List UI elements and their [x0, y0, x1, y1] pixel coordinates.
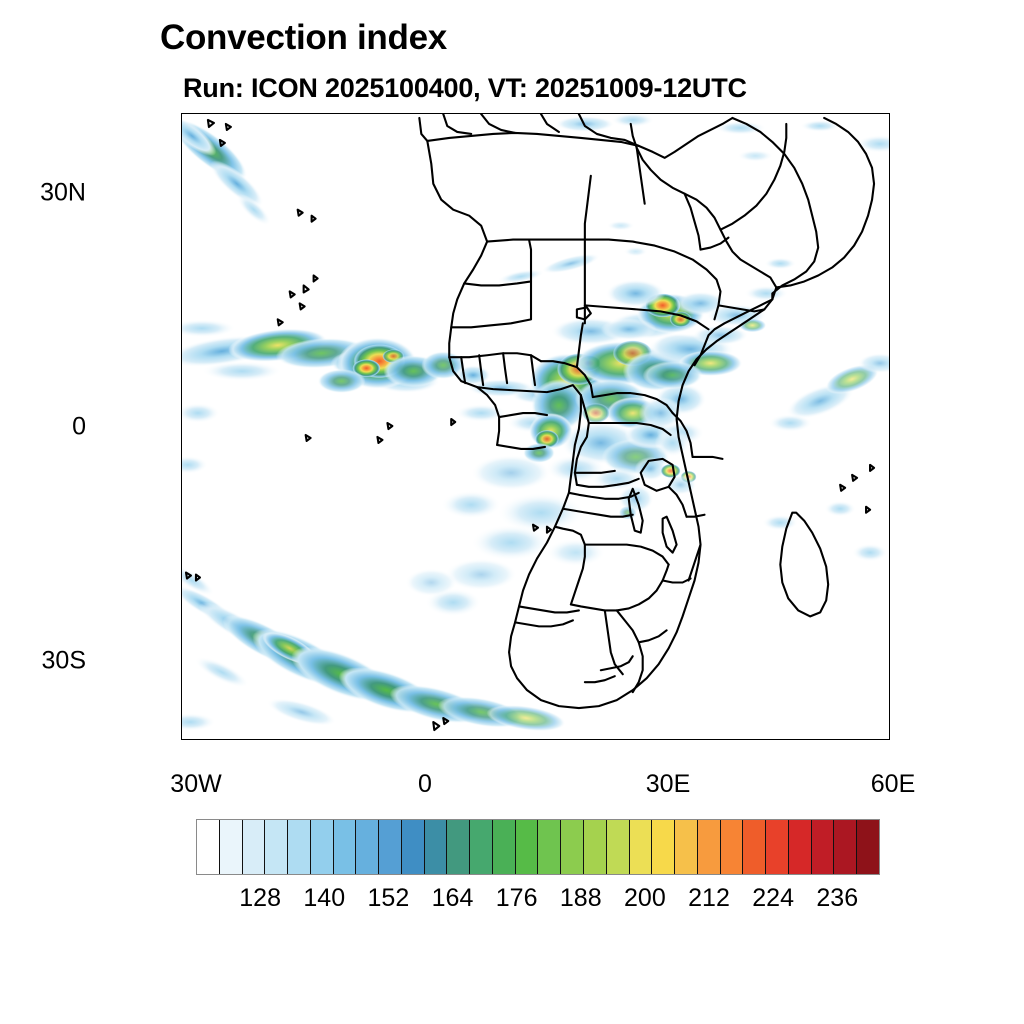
colorbar-cell-12: [470, 820, 493, 874]
africa-map: [182, 114, 889, 739]
x-tick-top-10e: [497, 113, 498, 114]
x-ticklabel-30e: 30E: [646, 770, 690, 799]
colorbar-label-176: 176: [496, 884, 538, 913]
colorbar-cell-15: [538, 820, 561, 874]
colorbar-cell-13: [493, 820, 516, 874]
x-tick-top-30e: [654, 113, 655, 114]
map-canvas: [182, 114, 889, 739]
colorbar-cell-23: [721, 820, 744, 874]
colorbar-cell-22: [698, 820, 721, 874]
map-plot-area: [181, 113, 890, 740]
x-ticklabel-60e: 60E: [871, 770, 915, 799]
colorbar-label-128: 128: [239, 884, 281, 913]
page-title: Convection index: [160, 18, 447, 58]
colorbar-cell-25: [766, 820, 789, 874]
colorbar-cell-21: [675, 820, 698, 874]
x-ticklabel-0: 0: [418, 770, 432, 799]
colorbar-cell-5: [311, 820, 334, 874]
colorbar-cell-16: [561, 820, 584, 874]
colorbar-cell-18: [607, 820, 630, 874]
colorbar-cell-19: [630, 820, 653, 874]
chart-root: Convection index Run: ICON 2025100400, V…: [0, 0, 1024, 1024]
colorbar-label-188: 188: [560, 884, 602, 913]
x-tick-top-20e: [576, 113, 577, 114]
colorbar-cell-9: [402, 820, 425, 874]
x-tick-top-50e: [812, 113, 813, 114]
y-tick-20s: [181, 583, 182, 584]
y-ticklabel-30n: 30N: [40, 179, 86, 208]
colorbar-cell-24: [743, 820, 766, 874]
colorbar-cell-11: [447, 820, 470, 874]
colorbar-cell-7: [356, 820, 379, 874]
colorbar-label-224: 224: [752, 884, 794, 913]
y-tick-20n: [181, 271, 182, 272]
x-tick-top-20w: [261, 113, 262, 114]
colorbar-cell-6: [334, 820, 357, 874]
colorbar-cell-17: [584, 820, 607, 874]
colorbar[interactable]: [196, 819, 880, 875]
x-tick-top-40e: [733, 113, 734, 114]
y-ticklabel-0: 0: [72, 413, 86, 442]
colorbar-cell-8: [379, 820, 402, 874]
colorbar-cell-3: [265, 820, 288, 874]
y-tick-30n: [181, 193, 182, 194]
colorbar-cell-29: [857, 820, 879, 874]
colorbar-cell-2: [243, 820, 266, 874]
colorbar-cell-27: [812, 820, 835, 874]
colorbar-cell-14: [516, 820, 539, 874]
colorbar-cell-10: [425, 820, 448, 874]
x-ticklabel-30w: 30W: [170, 770, 221, 799]
colorbar-label-200: 200: [624, 884, 666, 913]
colorbar-cell-0: [197, 820, 220, 874]
x-tick-top-0: [418, 113, 419, 114]
colorbar-cell-28: [834, 820, 857, 874]
x-tick-top-10w: [339, 113, 340, 114]
chart-subtitle: Run: ICON 2025100400, VT: 20251009-12UTC: [183, 73, 747, 104]
y-tick-10n: [181, 349, 182, 350]
colorbar-cell-1: [220, 820, 243, 874]
colorbar-cell-20: [652, 820, 675, 874]
x-tick-top-30w: [182, 113, 183, 114]
y-tick-10s: [181, 505, 182, 506]
colorbar-label-164: 164: [432, 884, 474, 913]
y-tick-30s: [181, 661, 182, 662]
x-tick-top-60e: [889, 113, 890, 114]
colorbar-label-152: 152: [368, 884, 410, 913]
colorbar-label-236: 236: [816, 884, 858, 913]
colorbar-label-212: 212: [688, 884, 730, 913]
colorbar-label-140: 140: [303, 884, 345, 913]
colorbar-cell-4: [288, 820, 311, 874]
colorbar-ticklabels: 128140152164176188200212224236: [0, 884, 1024, 918]
colorbar-cell-26: [789, 820, 812, 874]
y-ticklabel-30s: 30S: [42, 647, 86, 676]
y-tick-0: [181, 427, 182, 428]
